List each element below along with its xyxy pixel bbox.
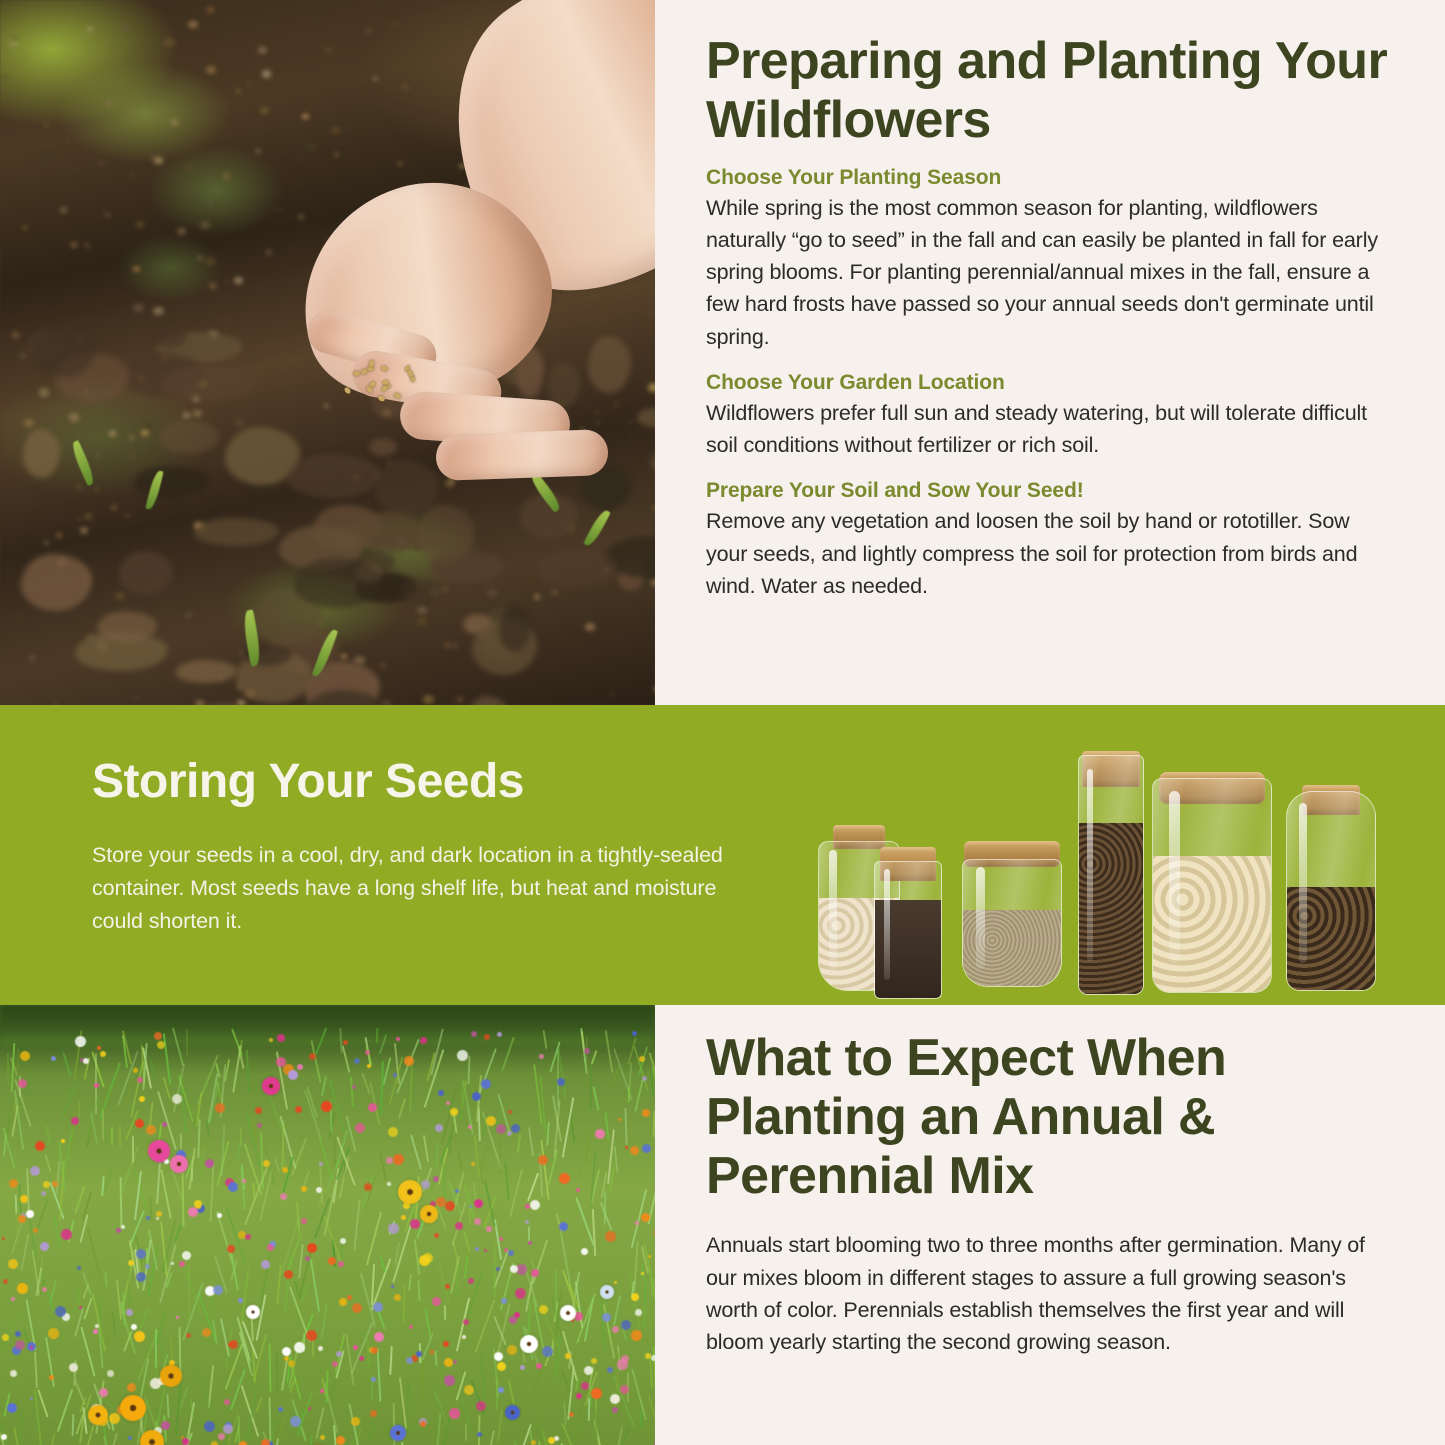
flower-bloom [530,1200,540,1210]
flower-bloom [20,1051,30,1061]
flower-bloom [443,1341,449,1347]
flower-bloom-large [262,1077,280,1095]
band-text-block: Storing Your Seeds Store your seeds in a… [92,757,732,937]
flower-bloom [93,1329,98,1334]
flower-bloom [307,1243,317,1253]
flower-bloom [215,1103,225,1113]
flower-bloom [631,1293,639,1301]
flower-bloom [607,1367,613,1373]
flower-bloom [435,1124,443,1132]
bottom-text-column: What to Expect When Planting an Annual &… [660,1005,1445,1445]
section-what-to-expect: What to Expect When Planting an Annual &… [0,1005,1445,1445]
flower-bloom [416,1351,422,1357]
flower-bloom [642,1144,651,1153]
flower-bloom [496,1124,506,1134]
flower-bloom-large [246,1305,260,1319]
flower-bloom [595,1129,605,1139]
flower-bloom [641,1272,644,1275]
flower-bloom [515,1288,526,1299]
flower-bloom [128,1260,134,1266]
flower-bloom [8,1259,18,1269]
photo-hand-sowing-seeds [0,0,655,705]
flower-bloom-large [88,1405,108,1425]
flower-bloom [525,1204,530,1209]
flower-bloom [2,1237,5,1240]
bottom-body: Annuals start blooming two to three mont… [706,1229,1389,1358]
band-title: Storing Your Seeds [92,757,732,807]
flower-bloom [52,1181,58,1187]
flower-bloom [161,1421,170,1430]
flower-bloom [635,1309,642,1316]
flower-bloom [639,1056,645,1062]
flower-bloom [472,1092,481,1101]
flower-bloom [128,1436,132,1440]
flower-bloom [539,1305,548,1314]
flower-bloom [509,1316,517,1324]
flower-bloom [486,1226,492,1232]
flower-bloom [17,1283,28,1294]
flower-bloom [196,1204,201,1209]
flower-bloom [602,1313,611,1322]
flower-bloom-large [520,1335,538,1353]
bottom-title: What to Expect When Planting an Annual &… [706,1029,1389,1205]
flower-bloom [263,1160,270,1167]
flower-bloom [186,1333,191,1338]
flower-bloom [294,1342,305,1353]
flower-bloom [463,1319,469,1325]
flower-bloom [42,1287,47,1292]
flower-bloom [497,1032,502,1037]
flower-bloom [359,1356,364,1361]
flower-bloom [455,1222,463,1230]
flower-bloom [474,1199,483,1208]
flower-bloom [309,1053,316,1060]
flower-bloom [421,1180,430,1189]
flower-bloom [43,1181,50,1188]
flower-bloom [171,1262,174,1265]
flower-bloom [576,1188,580,1192]
flower-bloom [528,1241,532,1245]
flower-bloom [284,1270,293,1279]
flower-bloom [83,1058,89,1064]
flower-bloom [477,1432,482,1437]
flower-bloom [336,1351,342,1357]
flower-bloom [420,1037,427,1044]
flower-bloom [71,1117,79,1125]
flower-bloom [320,1389,324,1393]
flower-bloom [162,1122,167,1127]
flower-bloom [340,1238,346,1244]
body-prepare-soil: Remove any vegetation and loosen the soi… [706,505,1389,602]
flower-bloom [211,1441,218,1445]
flower-bloom [131,1324,137,1330]
flower-bloom [182,1438,189,1445]
flower-bloom-large [398,1180,422,1204]
flower-bloom [228,1182,238,1192]
flower-bloom [308,1407,311,1410]
flower-bloom [355,1123,365,1133]
flower-bloom [135,1119,144,1128]
flower-bloom [154,1032,162,1040]
flower-bloom [305,1256,310,1261]
flower-bloom [227,1245,235,1253]
flower-bloom [301,1218,307,1224]
flower-bloom [635,1221,639,1225]
flower-bloom [476,1401,486,1411]
flower-bloom [136,1272,146,1282]
flower-bloom [508,1250,514,1256]
flower-bloom [109,1413,120,1424]
jar-black-seeds [874,861,942,999]
flower-bloom [301,1186,307,1192]
glass-highlight [1087,769,1093,961]
flower-bloom [182,1251,191,1260]
flower-bloom [30,1346,33,1349]
flower-bloom [133,1068,138,1073]
flower-bloom [610,1394,620,1404]
flower-bloom [630,1146,639,1155]
body-planting-season: While spring is the most common season f… [706,192,1389,353]
flower-bloom [11,1297,15,1301]
flower-bloom [121,1225,125,1229]
flower-bloom [507,1131,512,1136]
flower-bloom [139,1096,145,1102]
grass-blades [0,1005,655,1445]
flower-bloom [217,1213,222,1218]
flower-bloom [468,1125,472,1129]
flower-bloom [136,1249,146,1259]
flower-bloom [464,1385,474,1395]
jar-mixed-seeds [1286,791,1376,991]
flower-bloom [338,1261,344,1267]
flower-bloom [20,1195,28,1203]
flower-bloom-large [120,1395,146,1421]
flower-bloom [430,1350,434,1354]
flower-bloom [445,1284,450,1289]
flower-bloom [481,1079,491,1089]
flower-bloom [393,1073,397,1077]
flower-bloom [146,1125,156,1135]
flower-bloom [137,1077,143,1083]
flower-bloom [75,1036,86,1047]
flower-bloom [457,1050,468,1061]
flower-bloom [157,1041,165,1049]
flower-bloom [450,1108,458,1116]
flower-bloom [620,1385,629,1394]
flower-bloom [354,1058,360,1064]
flower-bloom [498,1387,504,1393]
glass-highlight [976,867,985,969]
flower-bloom [224,1399,230,1405]
top-text-column: Preparing and Planting Your Wildflowers … [660,0,1445,705]
flower-bloom [584,1048,590,1054]
flower-bloom [100,1051,106,1057]
flower-bloom [61,1229,72,1240]
flower-bloom [343,1040,348,1045]
flower-bloom [18,1215,26,1223]
flower-bloom [617,1359,628,1370]
flower-bloom [297,1064,303,1070]
flower-bloom [494,1352,503,1361]
flower-bloom [641,1213,650,1222]
flower-bloom [531,1440,536,1445]
flower-bloom [434,1233,439,1238]
flower-bloom [471,1162,475,1166]
flower-bloom [499,1237,503,1241]
flower-bloom [520,1365,525,1370]
flower-bloom [559,1222,568,1231]
body-garden-location: Wildflowers prefer full sun and steady w… [706,397,1389,462]
flower-bloom [332,1361,338,1367]
flower-bloom [433,1176,439,1182]
flower-bloom [364,1183,372,1191]
flower-bloom [581,1382,589,1390]
flower-bloom [288,1070,298,1080]
flower-bloom [548,1437,555,1444]
flower-bloom [290,1416,301,1427]
flower-bloom [591,1358,597,1364]
flower-bloom [446,1101,450,1105]
photo-seed-jars [800,720,1425,1005]
flower-bloom [176,1316,179,1319]
flower-bloom [229,1340,238,1349]
jar-pumpkin-seeds [1152,778,1272,993]
flower-bloom [49,1375,54,1380]
flower-bloom [501,1298,507,1304]
flower-bloom [625,1146,628,1149]
flower-bloom-large [560,1305,576,1321]
flower-bloom [156,1217,159,1220]
flower-bloom-large [600,1285,614,1299]
flower-bloom [238,1298,243,1303]
subhead-garden-location: Choose Your Garden Location [706,371,1389,395]
flower-bloom [507,1345,517,1355]
flower-bloom [276,1057,286,1067]
flower-bloom [352,1303,362,1313]
flower-bloom [367,1064,371,1068]
flower-bloom [15,1331,21,1337]
flower-bloom [365,1050,370,1055]
flower-bloom [347,1295,352,1300]
flower-bloom [255,1107,262,1114]
flower-bloom [462,1335,466,1339]
flower-bloom [475,1247,479,1251]
flower-bloom [432,1297,441,1306]
flower-bloom [257,1123,262,1128]
flower-bloom [351,1417,360,1426]
flower-bloom [55,1306,66,1317]
flower-bloom [374,1332,384,1342]
flower-bloom [453,1360,457,1364]
flower-bloom [557,1078,565,1086]
flower-bloom [306,1330,317,1341]
flower-bloom [510,1265,518,1273]
flower-bloom [319,1162,323,1166]
flower-bloom [388,1223,399,1234]
flower-bloom [15,1340,25,1350]
flower-bloom [410,1219,420,1229]
flower-bloom [278,1407,283,1412]
page-title: Preparing and Planting Your Wildflowers [706,32,1389,150]
flower-bloom [267,1244,274,1251]
flower-bloom [438,1090,444,1096]
flower-bloom [612,1407,618,1413]
flower-bloom [404,1056,414,1066]
flower-bloom [420,1421,426,1427]
flower-bloom [388,1127,398,1137]
flower-bloom [614,1281,617,1284]
flower-bloom [393,1154,404,1165]
glass-highlight [1169,791,1180,963]
flower-bloom [126,1309,133,1316]
flower-bloom [2,1334,9,1341]
flower-bloom [69,1363,78,1372]
flower-bloom [396,1037,400,1041]
finger [435,429,609,481]
flower-bloom [328,1257,336,1265]
flower-bloom [77,1266,81,1270]
flower-bloom [632,1031,637,1036]
flower-bloom [371,1347,378,1354]
flower-bloom [486,1116,496,1126]
flower-bloom [591,1388,602,1399]
seeds-in-hand [322,360,418,404]
flower-bloom [269,1038,273,1042]
flower-bloom [48,1328,59,1339]
flower-bloom [496,1267,500,1271]
flower-bloom [205,1159,214,1168]
flower-bloom [18,1079,27,1088]
flower-bloom [409,1325,413,1329]
flower-bloom [631,1330,642,1341]
flower-bloom [239,1441,247,1445]
flower-bloom [648,1255,651,1258]
flower-bloom [213,1285,223,1295]
flower-bloom [40,1242,49,1251]
flower-bloom [511,1124,520,1133]
flower-bloom [282,1167,288,1173]
flower-bloom [474,1218,481,1225]
flower-bloom [391,1285,394,1288]
flower-bloom [245,1234,251,1240]
flower-bloom [373,1302,383,1312]
flower-bloom [30,1397,33,1400]
flower-bloom [145,1264,150,1269]
flower-bloom [468,1278,474,1284]
flower-bloom [469,1205,472,1208]
flower-bloom [406,1357,413,1364]
flower-bloom [642,1076,647,1081]
flower-bloom [455,1189,459,1193]
flower-bloom [584,1366,593,1375]
flower-bloom [204,1421,215,1432]
flower-bloom [444,1375,455,1386]
subhead-planting-season: Choose Your Planting Season [706,166,1389,190]
jar-fine-seeds [962,859,1062,987]
flower-bloom [368,1103,377,1112]
flower-bloom [353,1345,358,1350]
flower-bloom [539,1054,544,1059]
flower-bloom [565,1353,571,1359]
flower-bloom-large [505,1405,520,1420]
flower-bloom [618,1118,621,1121]
flower-bloom [471,1031,477,1037]
flower-bloom [107,1370,114,1377]
flower-bloom [531,1269,539,1277]
flower-bloom [261,1260,270,1269]
jar-tall-dark-seeds [1078,755,1144,995]
section-preparing-planting: Preparing and Planting Your Wildflowers … [0,0,1445,705]
flower-bloom [508,1110,512,1114]
glass-highlight [829,850,836,970]
flower-bloom [261,1439,270,1445]
flower-bloom [386,1157,393,1164]
flower-bloom [30,1166,40,1176]
flower-bloom [9,1179,18,1188]
flower-bloom [282,1347,291,1356]
flower-bloom [97,1046,101,1050]
flower-bloom [277,1034,285,1042]
flower-bloom [444,1358,453,1367]
band-body: Store your seeds in a cool, dry, and dar… [92,839,732,937]
flower-bloom [394,1294,401,1301]
flower-bloom [321,1101,332,1112]
flower-bloom [295,1106,302,1113]
flower-bloom [576,1393,582,1399]
flower-bloom-large [390,1425,406,1441]
flower-bloom [10,1370,17,1377]
flower-bloom [536,1363,542,1369]
flower-bloom [352,1085,356,1089]
flower-bloom [202,1328,211,1337]
flower-bloom [612,1326,619,1333]
flower-bloom [569,1412,574,1417]
flower-bloom [497,1362,506,1371]
flower-bloom [94,1083,99,1088]
flower-bloom [581,1248,588,1255]
flower-bloom [642,1109,650,1117]
glass-highlight [1299,803,1307,963]
flower-bloom [525,1220,529,1224]
flower-bloom [484,1249,487,1252]
flower-bloom-large [420,1205,438,1223]
flower-bloom [387,1182,391,1186]
flower-bloom [336,1436,345,1445]
flower-bloom [280,1193,287,1200]
flower-bloom [436,1197,446,1207]
flower-bloom [320,1435,325,1440]
flower-bloom [79,1306,82,1309]
flower-bloom [51,1056,56,1061]
flower-bloom [423,1253,433,1263]
flower-bloom [41,1191,46,1196]
flower-bloom [559,1173,570,1184]
flower-bloom-large [160,1365,182,1387]
flower-bloom [127,1383,136,1392]
subhead-prepare-soil: Prepare Your Soil and Sow Your Seed! [706,479,1389,503]
flower-bloom [95,1324,99,1328]
flower-bloom [26,1210,34,1218]
glass-highlight [884,869,890,979]
flower-bloom [371,1377,376,1382]
flower-bloom [3,1279,8,1284]
flower-bloom [449,1408,460,1419]
flower-bloom [242,1179,246,1183]
flower-bloom [605,1231,616,1242]
flower-bloom [288,1360,295,1367]
flower-bloom [61,1139,65,1143]
flower-bloom [223,1424,233,1434]
